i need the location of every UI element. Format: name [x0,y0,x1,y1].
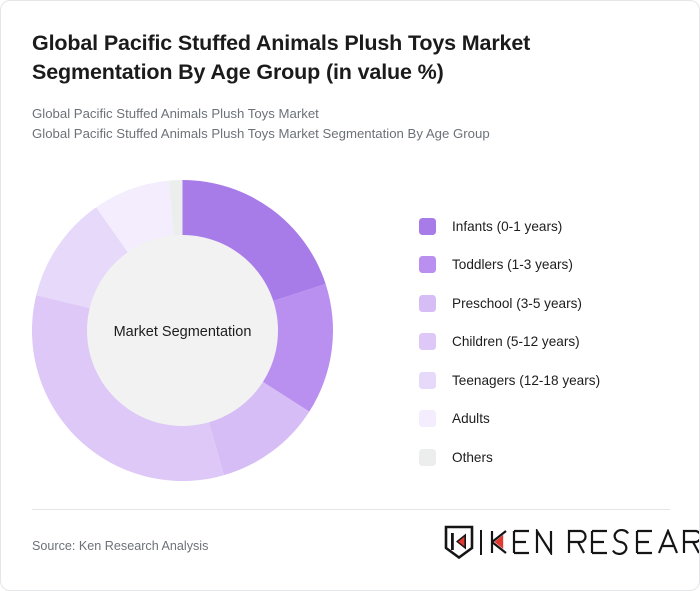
legend-swatch-icon [419,410,436,427]
brand-logo [444,525,700,559]
legend-item[interactable]: Toddlers (1-3 years) [419,246,679,285]
legend-swatch-icon [419,333,436,350]
brand-divider [480,530,482,555]
legend-item-label: Preschool (3-5 years) [452,296,582,311]
legend-item-label: Adults [452,411,490,426]
legend-item[interactable]: Adults [419,400,679,439]
donut-chart-svg: Market Segmentation [31,179,334,482]
donut-chart: Market Segmentation [31,179,334,482]
chart-area: Market Segmentation Infants (0-1 years)T… [1,161,700,501]
chart-card: Global Pacific Stuffed Animals Plush Toy… [0,0,700,591]
footer-divider [32,509,670,510]
legend-item-label: Children (5-12 years) [452,334,580,349]
legend-swatch-icon [419,218,436,235]
legend-swatch-icon [419,372,436,389]
page-title: Global Pacific Stuffed Animals Plush Toy… [32,29,652,86]
legend-item[interactable]: Preschool (3-5 years) [419,284,679,323]
legend-swatch-icon [419,449,436,466]
ken-research-shield-icon [444,525,474,559]
subtitle-line-2: Global Pacific Stuffed Animals Plush Toy… [32,124,652,143]
legend-item-label: Infants (0-1 years) [452,219,562,234]
chart-header: Global Pacific Stuffed Animals Plush Toy… [32,29,652,143]
legend-item-label: Others [452,450,493,465]
subtitle-block: Global Pacific Stuffed Animals Plush Toy… [32,104,652,143]
donut-center-label: Market Segmentation [114,324,252,340]
legend-item[interactable]: Teenagers (12-18 years) [419,361,679,400]
source-note: Source: Ken Research Analysis [32,539,208,553]
legend-item[interactable]: Infants (0-1 years) [419,207,679,246]
legend-swatch-icon [419,295,436,312]
legend-swatch-icon [419,256,436,273]
legend-item-label: Teenagers (12-18 years) [452,373,600,388]
ken-research-wordmark [489,529,700,555]
chart-legend: Infants (0-1 years)Toddlers (1-3 years)P… [419,207,679,477]
legend-item[interactable]: Others [419,438,679,477]
subtitle-line-1: Global Pacific Stuffed Animals Plush Toy… [32,104,652,123]
legend-item[interactable]: Children (5-12 years) [419,323,679,362]
legend-item-label: Toddlers (1-3 years) [452,257,573,272]
